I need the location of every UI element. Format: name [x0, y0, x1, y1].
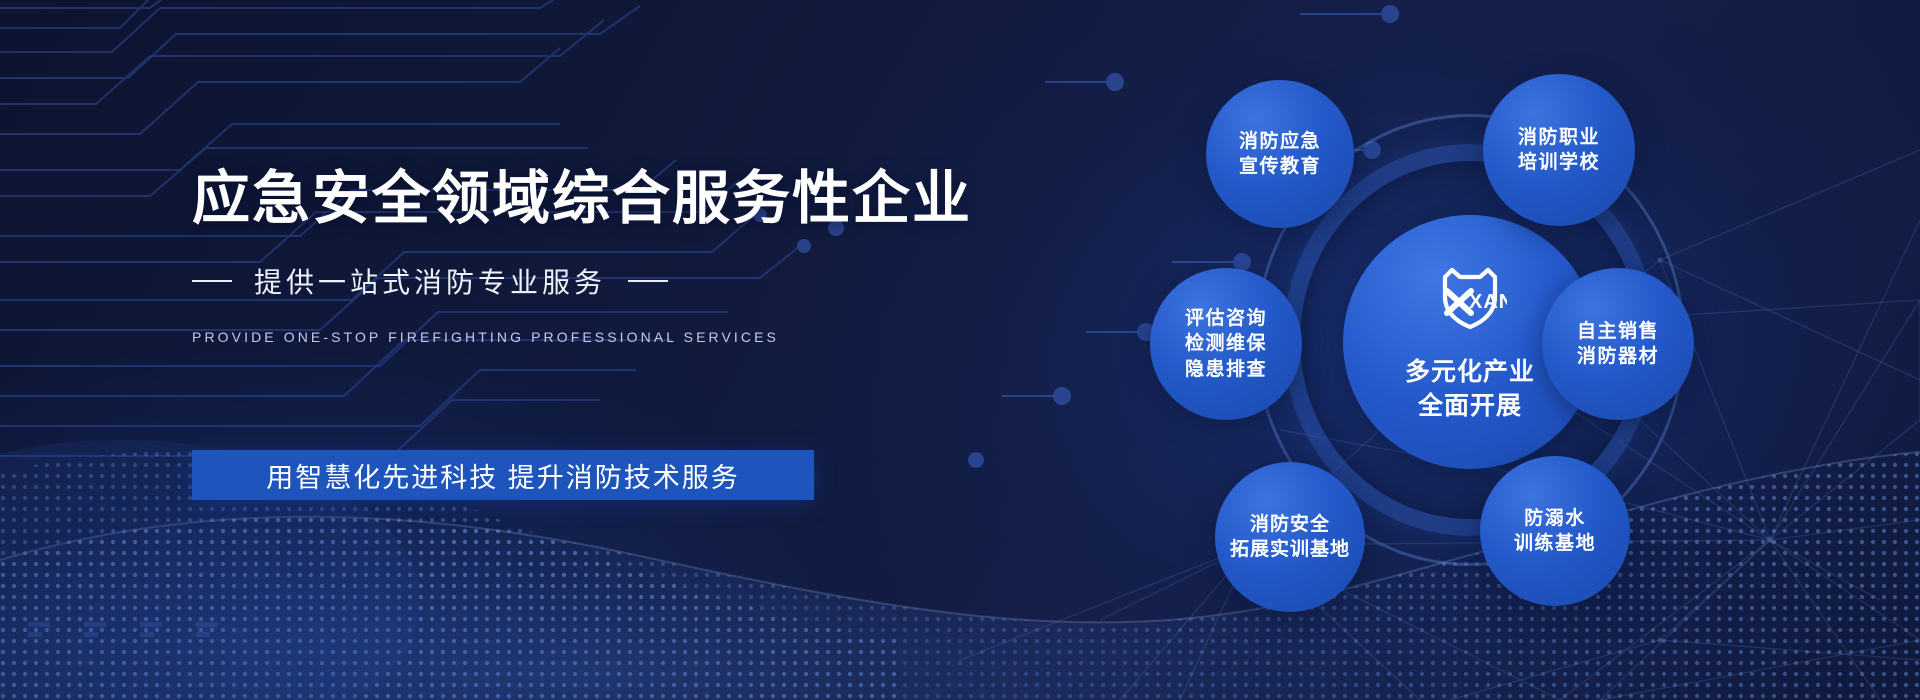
service-node-anti-drowning-base[interactable]: 防溺水 训练基地 [1480, 456, 1630, 606]
node-line-1: 消防应急 [1239, 129, 1321, 154]
node-line-2: 检测维保 [1185, 331, 1267, 356]
node-line-2: 宣传教育 [1239, 154, 1321, 179]
node-line-1: 评估咨询 [1185, 306, 1267, 331]
node-line-1: 消防职业 [1518, 125, 1600, 150]
subtitle-row: 提供一站式消防专业服务 [192, 261, 1012, 301]
node-line-2: 消防器材 [1577, 344, 1659, 369]
node-line-3: 隐患排查 [1185, 357, 1267, 382]
service-node-vocational-training-school[interactable]: 消防职业 培训学校 [1483, 74, 1635, 226]
service-node-fire-emergency-education[interactable]: 消防应急 宣传教育 [1206, 80, 1354, 228]
dash-left-icon [192, 280, 232, 282]
dash-right-icon [628, 280, 668, 282]
xan-shield-logo-icon: XAN [1433, 261, 1507, 343]
english-tagline: PROVIDE ONE-STOP FIREFIGHTING PROFESSION… [192, 329, 1012, 345]
node-line-2: 培训学校 [1518, 150, 1600, 175]
center-line-2: 全面开展 [1418, 390, 1522, 424]
subtitle: 提供一站式消防专业服务 [254, 261, 606, 301]
node-line-2: 训练基地 [1514, 531, 1596, 556]
page-title: 应急安全领域综合服务性企业 [192, 168, 1012, 229]
hero-banner: 应急安全领域综合服务性企业 提供一站式消防专业服务 PROVIDE ONE-ST… [0, 0, 1920, 700]
service-node-equipment-sales[interactable]: 自主销售 消防器材 [1542, 268, 1694, 420]
headline-block: 应急安全领域综合服务性企业 提供一站式消防专业服务 PROVIDE ONE-ST… [192, 168, 1012, 345]
service-node-safety-training-base[interactable]: 消防安全 拓展实训基地 [1215, 462, 1365, 612]
node-line-1: 防溺水 [1524, 506, 1586, 531]
logo-text: XAN [1469, 291, 1507, 313]
center-line-1: 多元化产业 [1405, 356, 1535, 390]
service-node-assessment-inspection[interactable]: 评估咨询 检测维保 隐患排查 [1150, 268, 1302, 420]
services-circle-diagram: XAN 多元化产业 全面开展 消防应急 宣传教育 消防职业 培训学校 评估咨询 … [1150, 72, 1790, 628]
node-line-1: 自主销售 [1577, 319, 1659, 344]
node-line-2: 拓展实训基地 [1230, 537, 1350, 562]
node-line-1: 消防安全 [1250, 512, 1330, 537]
cta-button[interactable]: 用智慧化先进科技 提升消防技术服务 [192, 450, 814, 500]
